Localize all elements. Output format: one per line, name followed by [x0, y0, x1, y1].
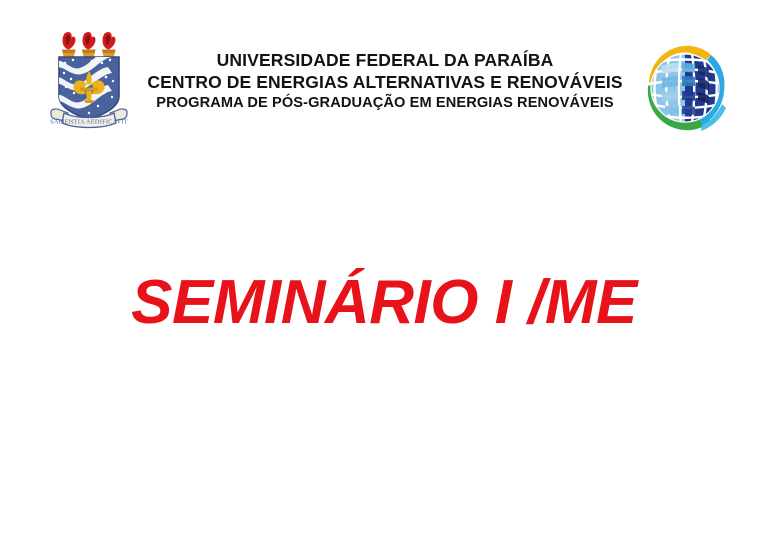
- ufpb-coat-of-arms-icon: SAPIENTIA AEDIFICAVIT: [46, 27, 132, 131]
- header-text-block: UNIVERSIDADE FEDERAL DA PARAÍBA CENTRO D…: [140, 50, 630, 114]
- center-name: CENTRO DE ENERGIAS ALTERNATIVAS E RENOVÁ…: [140, 71, 630, 93]
- program-name: PROGRAMA DE PÓS-GRADUAÇÃO EM ENERGIAS RE…: [140, 93, 630, 114]
- presentation-slide: SAPIENTIA AEDIFICAVIT UNIVERSIDADE FEDER…: [0, 0, 768, 542]
- slide-header: SAPIENTIA AEDIFICAVIT UNIVERSIDADE FEDER…: [0, 0, 768, 140]
- cear-globe-icon: [629, 36, 737, 140]
- crest-motto: SAPIENTIA AEDIFICAVIT: [50, 119, 128, 126]
- university-name: UNIVERSIDADE FEDERAL DA PARAÍBA: [140, 50, 630, 71]
- page-title: SEMINÁRIO I /ME: [131, 272, 637, 334]
- shield: [50, 51, 119, 119]
- title-area: SEMINÁRIO I /ME: [0, 258, 768, 348]
- slide-content-area: [0, 350, 768, 542]
